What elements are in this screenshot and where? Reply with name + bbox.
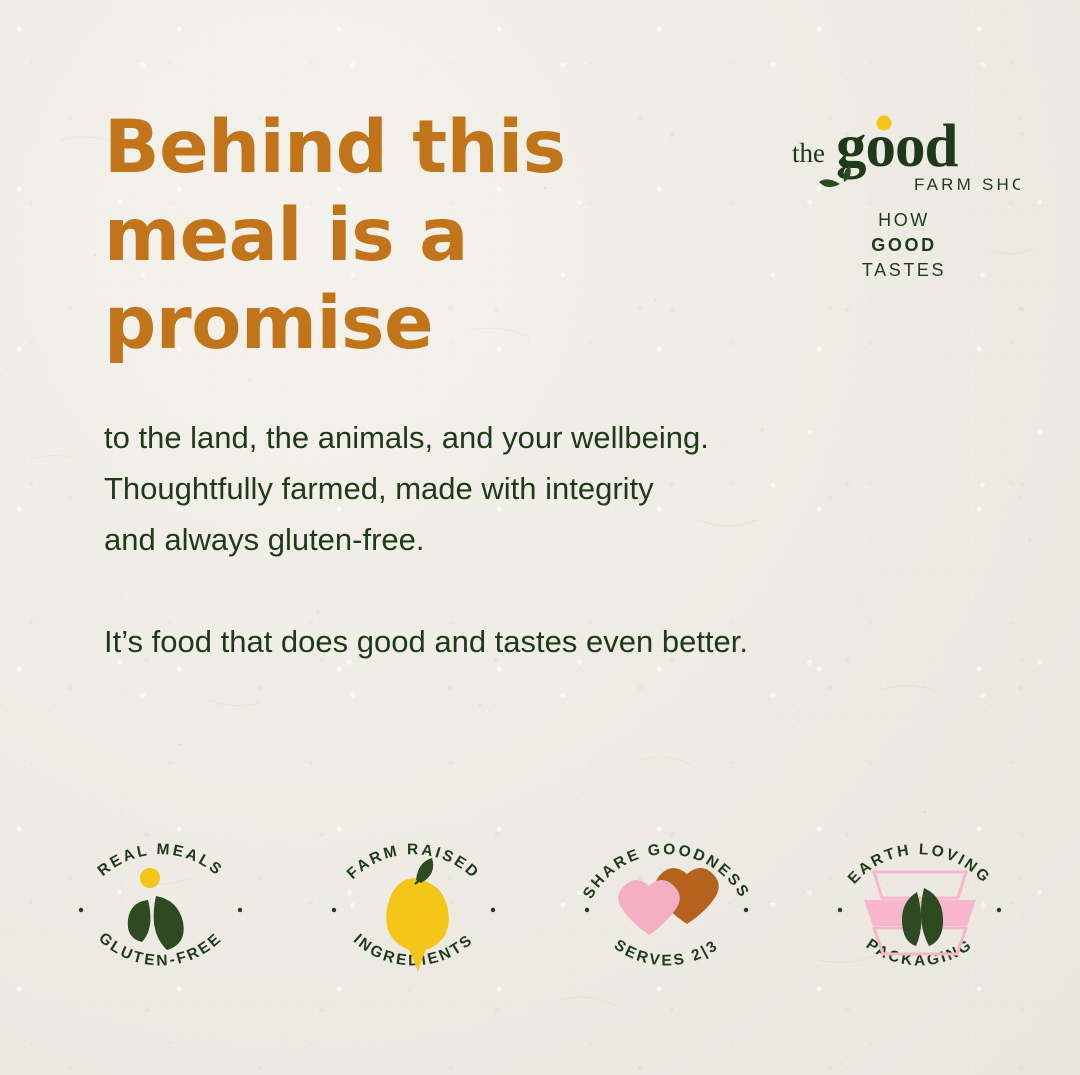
- badge-3-left-dot: [585, 908, 589, 912]
- tagline-line-how: HOW: [784, 208, 1024, 233]
- brand-logo-block: the good FARM SHOP HOW GOOD TASTES: [784, 110, 1024, 283]
- tagline-line-good: GOOD: [784, 233, 1024, 258]
- body-copy: to the land, the animals, and your wellb…: [104, 412, 934, 667]
- badge-2-left-dot: [332, 908, 336, 912]
- badge-1-left-dot: [79, 908, 83, 912]
- badge-1-top-text: REAL MEALS: [95, 841, 227, 880]
- logo-wordmark: the good FARM SHOP: [784, 110, 1024, 192]
- badge-2-right-dot: [491, 908, 495, 912]
- badge-farm-raised-ingredients: FARM RAISED INGREDIENTS: [306, 800, 521, 1015]
- yellow-dot-icon: [877, 116, 892, 131]
- badge-earth-loving-packaging: EARTH LOVING PACKAGING: [812, 800, 1027, 1015]
- badge-3-bottom-text: SERVES 2|3: [611, 937, 722, 970]
- leaves-with-sun-icon: [128, 868, 184, 950]
- badge-4-right-dot: [997, 908, 1001, 912]
- logo-farm-shop-text: FARM SHOP: [914, 175, 1020, 194]
- body-paragraph-2: It’s food that does good and tastes even…: [104, 616, 934, 667]
- headline-line-1: Behind this: [104, 104, 724, 192]
- logo-good-text: good: [836, 113, 959, 180]
- page-headline: Behind this meal is a promise: [104, 104, 724, 368]
- badge-row: REAL MEALS GLUTEN-FREE FARM RAISED: [0, 800, 1080, 1015]
- logo-tagline: HOW GOOD TASTES: [784, 208, 1024, 283]
- badge-real-meals-gluten-free: REAL MEALS GLUTEN-FREE: [53, 800, 268, 1015]
- badge-1-right-dot: [238, 908, 242, 912]
- badge-2-top-text: FARM RAISED: [344, 841, 483, 883]
- badge-4-left-dot: [838, 908, 842, 912]
- tagline-line-tastes: TASTES: [784, 258, 1024, 283]
- badge-4-top-text: EARTH LOVING: [845, 841, 994, 887]
- headline-line-2: meal is a: [104, 192, 724, 280]
- badge-share-goodness-serves: SHARE GOODNESS SERVES 2|3: [559, 800, 774, 1015]
- badge-3-right-dot: [744, 908, 748, 912]
- logo-the-text: the: [792, 138, 825, 168]
- two-hearts-icon: [618, 868, 719, 935]
- body-paragraph-1: to the land, the animals, and your wellb…: [104, 412, 934, 565]
- headline-line-3: promise: [104, 280, 724, 368]
